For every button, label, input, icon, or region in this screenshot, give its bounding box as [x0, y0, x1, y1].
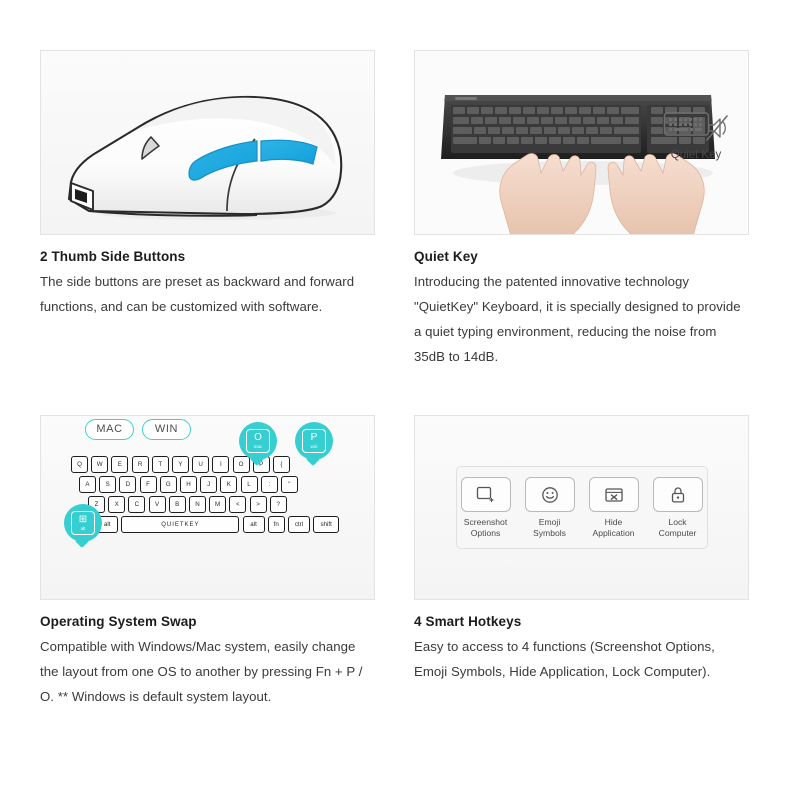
hotkey-label-line2: Computer: [659, 528, 697, 538]
hotkey-label: Screenshot Options: [460, 517, 512, 539]
hotkey-keycap: [589, 477, 639, 512]
feature-title: 2 Thumb Side Buttons: [40, 249, 377, 264]
quiet-key-badge: Quiet Key: [656, 109, 736, 161]
image-panel-os-swap: MAC WIN Q W E R T Y U I O P {: [40, 415, 375, 600]
screenshot-icon: [476, 486, 496, 503]
key: C: [128, 496, 145, 513]
key: N: [189, 496, 206, 513]
feature-row-bottom: MAC WIN Q W E R T Y U I O P {: [40, 415, 760, 709]
highlight-key-o-label: O: [254, 433, 262, 443]
feature-row-top: 2 Thumb Side Buttons The side buttons ar…: [40, 50, 760, 369]
hotkey-lock-computer: Lock Computer: [652, 477, 704, 539]
hotkey-row-closeup: Screenshot Options: [415, 416, 748, 599]
key: V: [149, 496, 166, 513]
image-panel-quiet-key: Quiet Key: [414, 50, 749, 235]
hotkey-label: Lock Computer: [652, 517, 704, 539]
feature-grid: 2 Thumb Side Buttons The side buttons ar…: [40, 50, 760, 709]
key: D: [119, 476, 136, 493]
keyboard-row-2: A S D F G H J K L : ": [79, 476, 298, 493]
highlight-key-o: O mac: [239, 422, 277, 460]
key: J: [200, 476, 217, 493]
key: :: [261, 476, 278, 493]
feature-body: Introducing the patented innovative tech…: [414, 269, 751, 369]
hotkey-keycap: [653, 477, 703, 512]
key: R: [132, 456, 149, 473]
key: G: [160, 476, 177, 493]
feature-card-thumb-side-buttons: 2 Thumb Side Buttons The side buttons ar…: [40, 50, 377, 369]
feature-body: Easy to access to 4 functions (Screensho…: [414, 634, 751, 684]
os-pill-win: WIN: [142, 419, 191, 440]
quiet-key-badge-label: Quiet Key: [656, 149, 736, 161]
key: {: [273, 456, 290, 473]
hotkey-label-line1: Lock: [668, 517, 686, 527]
feature-card-operating-system-swap: MAC WIN Q W E R T Y U I O P {: [40, 415, 377, 709]
key-spacebar: QUIETKEY: [121, 516, 239, 533]
hotkey-label: Hide Application: [588, 517, 640, 539]
key: F: [140, 476, 157, 493]
key: X: [108, 496, 125, 513]
feature-card-quiet-key: Quiet Key Quiet Key Introducing the pate…: [414, 50, 751, 369]
highlight-key-p: P win: [295, 422, 333, 460]
hotkey-keycap: [525, 477, 575, 512]
key: Q: [71, 456, 88, 473]
key: H: [180, 476, 197, 493]
hotkey-label-line1: Emoji: [539, 517, 561, 527]
hotkey-tray: Screenshot Options: [456, 466, 708, 549]
highlight-key-p-label: P: [311, 433, 318, 443]
image-panel-mouse: [40, 50, 375, 235]
feature-title: Quiet Key: [414, 249, 751, 264]
key: W: [91, 456, 108, 473]
key: U: [192, 456, 209, 473]
mouse-illustration: [41, 51, 375, 235]
hotkey-label-line1: Screenshot: [464, 517, 507, 527]
key-ctrl-right: ctrl: [288, 516, 310, 533]
key-shift-right: shift: [313, 516, 339, 533]
mouse-side-view: [41, 51, 374, 234]
key: S: [99, 476, 116, 493]
os-pill-mac: MAC: [85, 419, 134, 440]
key: A: [79, 476, 96, 493]
emoji-smiley-icon: [541, 486, 559, 504]
key: B: [169, 496, 186, 513]
hotkey-screenshot-options: Screenshot Options: [460, 477, 512, 539]
keyboard-layout-diagram: MAC WIN Q W E R T Y U I O P {: [41, 416, 374, 599]
key: ?: [270, 496, 287, 513]
highlight-key-o-sub: mac: [254, 445, 263, 450]
hotkey-label-line1: Hide: [605, 517, 623, 527]
keyboard-row-bottom: ctrl alt QUIETKEY alt fn ctrl shift: [71, 516, 339, 533]
key: >: [250, 496, 267, 513]
feature-body: Compatible with Windows/Mac system, easi…: [40, 634, 377, 709]
feature-title: 4 Smart Hotkeys: [414, 614, 751, 629]
key: Y: [172, 456, 189, 473]
hotkey-label-line2: Application: [592, 528, 634, 538]
key: <: [229, 496, 246, 513]
key-alt-right: alt: [243, 516, 265, 533]
hotkey-label-line2: Symbols: [533, 528, 566, 538]
image-panel-hotkeys: Screenshot Options: [414, 415, 749, 600]
highlight-key-p-sub: win: [311, 445, 318, 450]
hotkey-hide-application: Hide Application: [588, 477, 640, 539]
hotkey-emoji-symbols: Emoji Symbols: [524, 477, 576, 539]
highlight-key-win-alt: ⊞ alt: [64, 504, 102, 542]
keyboard-row-3: Z X C V B N M < > ?: [88, 496, 287, 513]
padlock-icon: [670, 486, 686, 504]
key: ": [281, 476, 298, 493]
key: K: [220, 476, 237, 493]
key-o: O: [233, 456, 250, 473]
key-fn: fn: [268, 516, 285, 533]
feature-body: The side buttons are preset as backward …: [40, 269, 377, 319]
key: I: [212, 456, 229, 473]
feature-card-smart-hotkeys: Screenshot Options: [414, 415, 751, 709]
hotkey-label: Emoji Symbols: [524, 517, 576, 539]
feature-title: Operating System Swap: [40, 614, 377, 629]
hide-window-icon: [604, 487, 624, 503]
hotkey-label-line2: Options: [471, 528, 501, 538]
key: T: [152, 456, 169, 473]
keyboard-mute-icon: [663, 109, 729, 143]
key: E: [111, 456, 128, 473]
key: M: [209, 496, 226, 513]
key: L: [241, 476, 258, 493]
hotkey-keycap: [461, 477, 511, 512]
highlight-key-win-label: ⊞: [79, 515, 87, 525]
highlight-key-win-sub: alt: [81, 527, 86, 532]
